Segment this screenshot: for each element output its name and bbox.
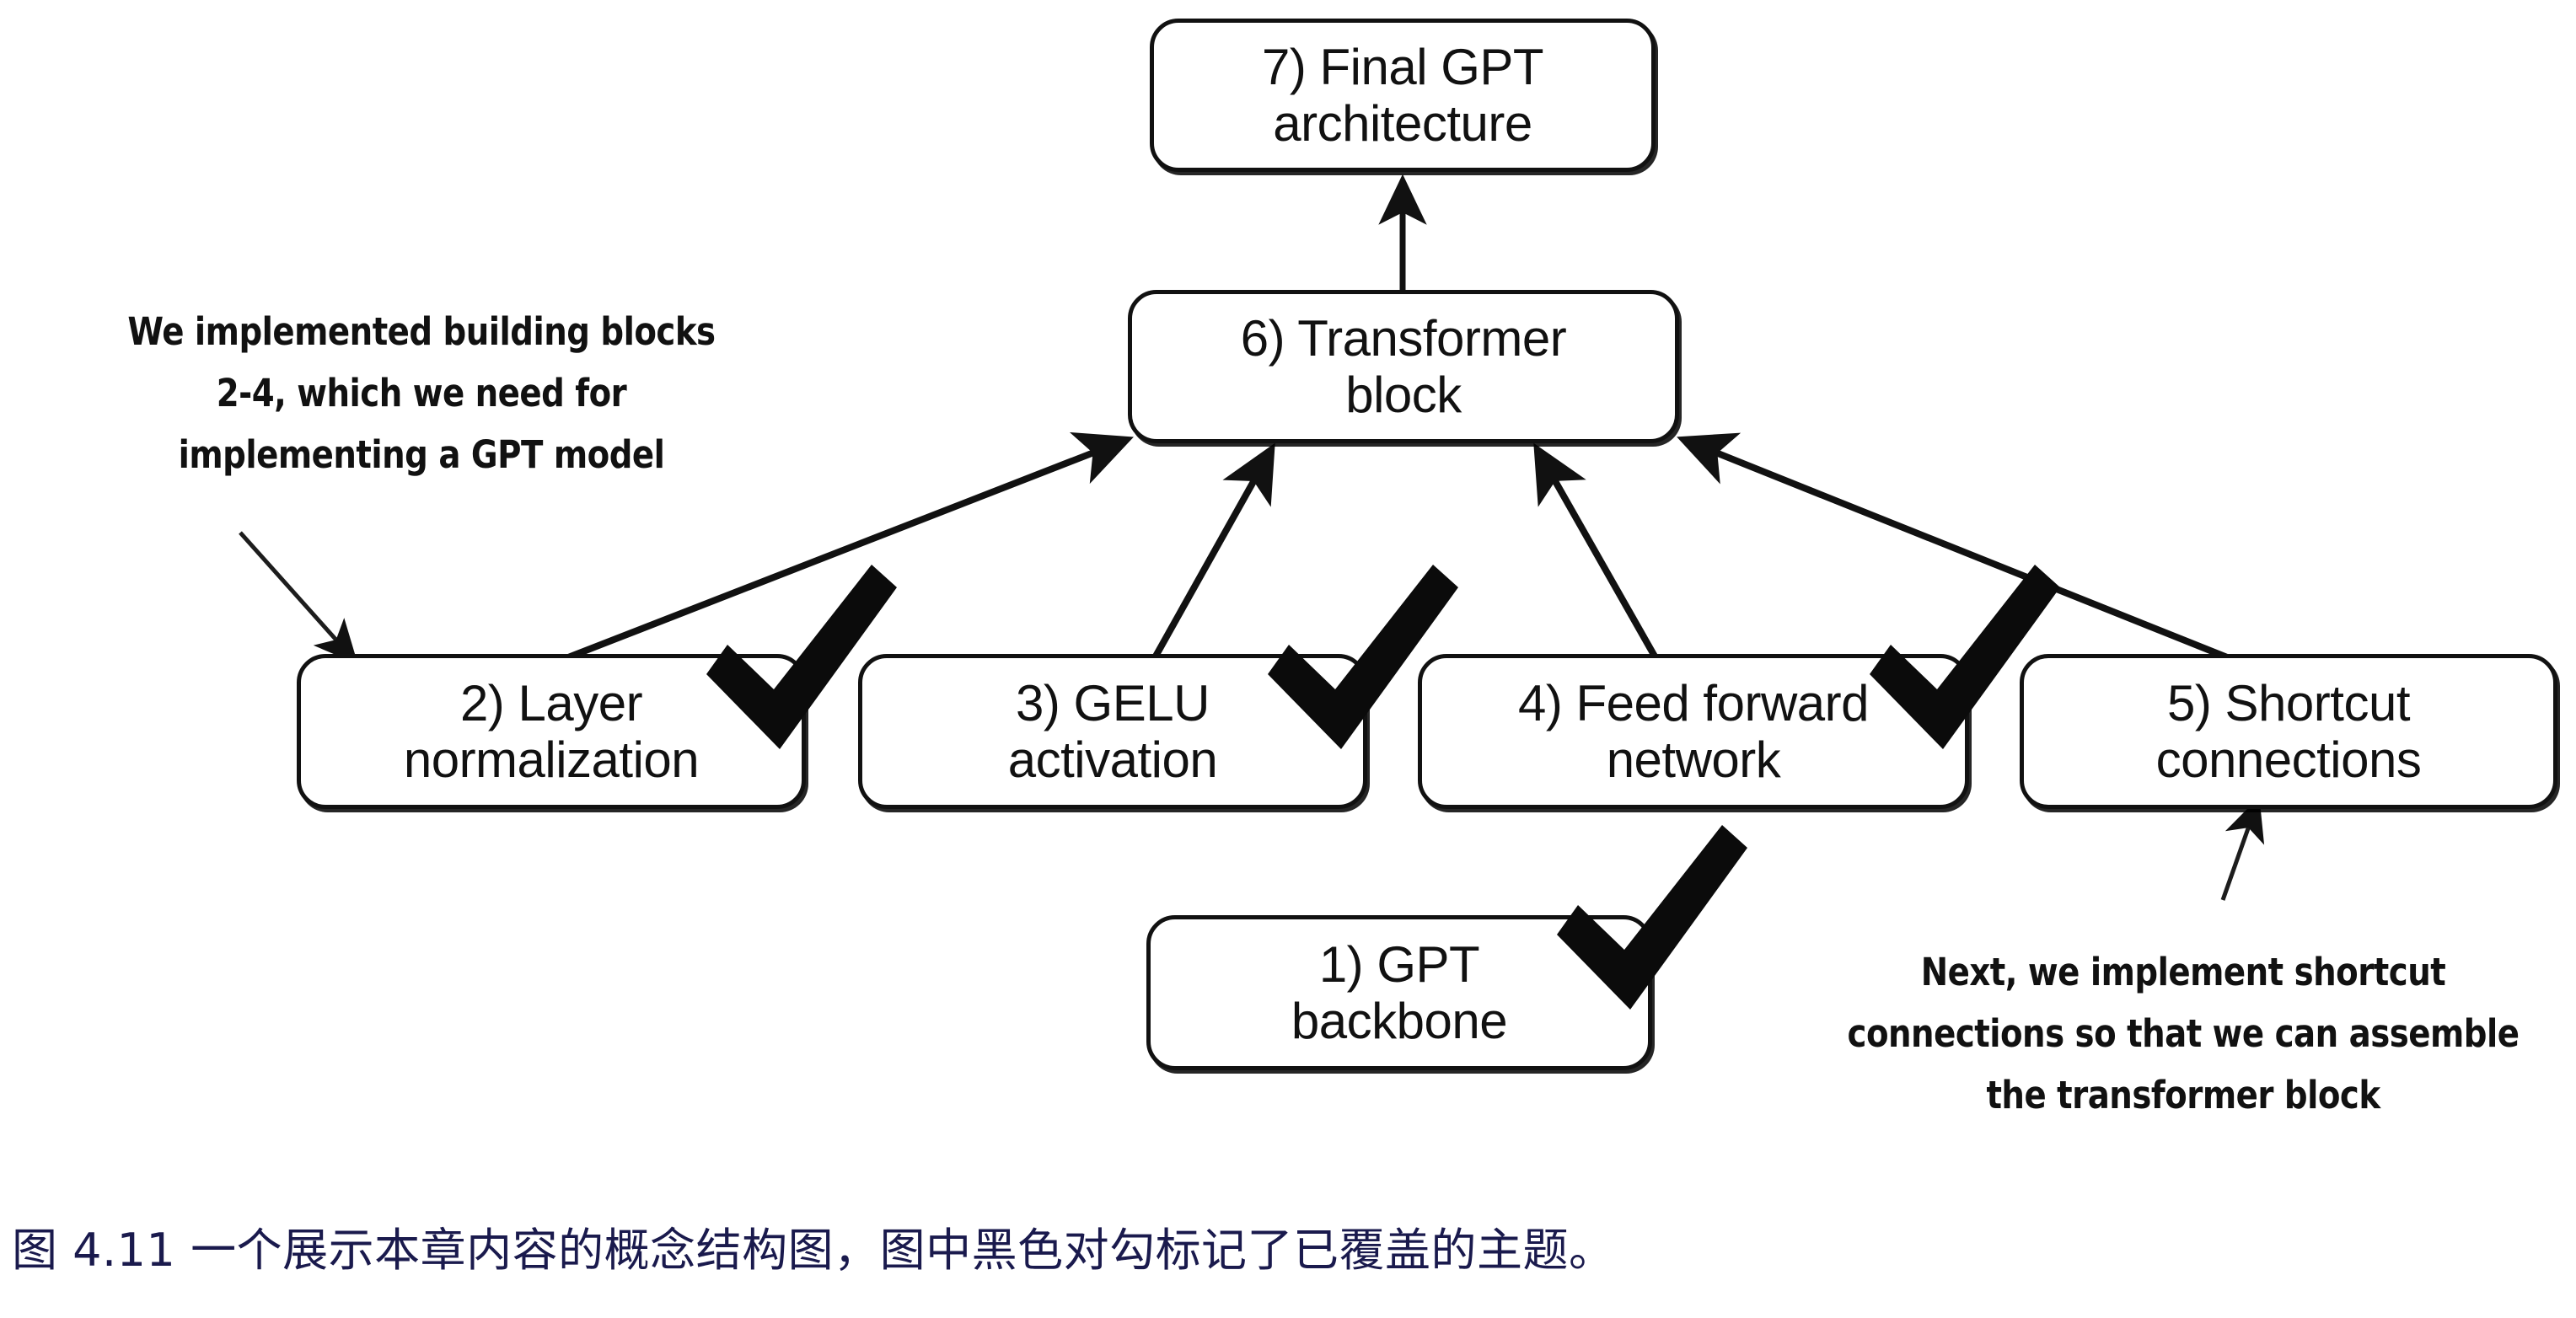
node-shortcut-connections-line2: connections	[2148, 731, 2430, 788]
annotation-left-line3: implementing a GPT model	[103, 425, 741, 486]
node-shortcut-connections[interactable]: 5) Shortcut connections	[2020, 654, 2557, 809]
edge-feedforward-to-transformer	[1538, 450, 1657, 661]
node-transformer-block-label: 6) Transformer block	[1224, 310, 1583, 423]
node-gelu-activation-label: 3) GELU activation	[991, 675, 1234, 788]
edge-shortcut-to-transformer	[1684, 440, 2235, 661]
node-final-gpt-architecture-label: 7) Final GPT architecture	[1245, 39, 1560, 152]
figure-caption: 图 4.11 一个展示本章内容的概念结构图，图中黑色对勾标记了已覆盖的主题。	[12, 1224, 2557, 1278]
node-layer-normalization-line2: normalization	[395, 731, 707, 788]
node-layer-normalization-label: 2) Layer normalization	[387, 675, 716, 788]
edge-right-annotation-to-shortcut	[2223, 802, 2257, 900]
edge-gelu-to-transformer	[1153, 450, 1271, 661]
node-feed-forward-network[interactable]: 4) Feed forward network	[1418, 654, 1969, 809]
annotation-right-line2: connections so that we can assemble	[1835, 1004, 2531, 1065]
edge-left-annotation-to-layernorm	[240, 533, 354, 660]
node-final-gpt-architecture[interactable]: 7) Final GPT architecture	[1150, 19, 1656, 172]
node-gpt-backbone-line2: backbone	[1283, 993, 1516, 1049]
annotation-right: Next, we implement shortcut connections …	[1835, 942, 2531, 1127]
node-gpt-backbone-line1: 1) GPT	[1283, 936, 1516, 993]
node-transformer-block-line2: block	[1232, 367, 1575, 423]
diagram-canvas: 7) Final GPT architecture 6) Transformer…	[0, 0, 2576, 1318]
node-transformer-block[interactable]: 6) Transformer block	[1128, 290, 1679, 443]
annotation-left: We implemented building blocks 2-4, whic…	[103, 302, 741, 486]
node-gpt-backbone[interactable]: 1) GPT backbone	[1146, 915, 1652, 1070]
annotation-right-line1: Next, we implement shortcut	[1835, 942, 2531, 1004]
node-shortcut-connections-line1: 5) Shortcut	[2148, 675, 2430, 731]
annotation-right-line3: the transformer block	[1835, 1065, 2531, 1127]
node-shortcut-connections-label: 5) Shortcut connections	[2139, 675, 2439, 788]
node-gpt-backbone-label: 1) GPT backbone	[1275, 936, 1524, 1049]
node-feed-forward-network-line1: 4) Feed forward	[1510, 675, 1877, 731]
node-gelu-activation-line1: 3) GELU	[1000, 675, 1226, 731]
node-final-gpt-architecture-line1: 7) Final GPT	[1253, 39, 1552, 95]
node-layer-normalization-line1: 2) Layer	[395, 675, 707, 731]
node-final-gpt-architecture-line2: architecture	[1253, 95, 1552, 152]
node-gelu-activation[interactable]: 3) GELU activation	[858, 654, 1367, 809]
node-gelu-activation-line2: activation	[1000, 731, 1226, 788]
annotation-left-line2: 2-4, which we need for	[103, 363, 741, 425]
annotation-left-line1: We implemented building blocks	[103, 302, 741, 363]
node-layer-normalization[interactable]: 2) Layer normalization	[297, 654, 806, 809]
node-feed-forward-network-label: 4) Feed forward network	[1501, 675, 1886, 788]
node-feed-forward-network-line2: network	[1510, 731, 1877, 788]
node-transformer-block-line1: 6) Transformer	[1232, 310, 1575, 367]
